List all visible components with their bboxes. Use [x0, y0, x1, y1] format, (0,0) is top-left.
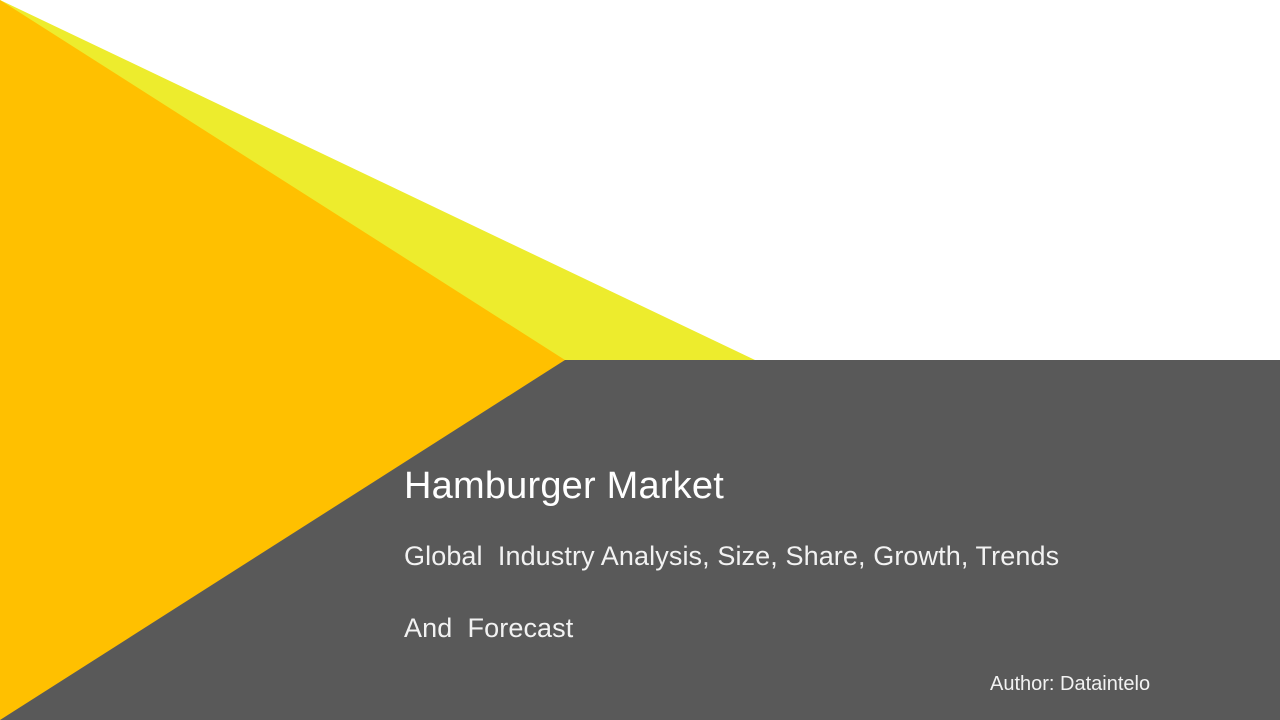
page-title: Hamburger Market	[404, 462, 1204, 510]
cover-subtitle-line-2: And Forecast	[404, 602, 1204, 654]
cover-text-block: Hamburger Market Global Industry Analysi…	[404, 462, 1204, 654]
author-credit: Author: Dataintelo	[990, 672, 1150, 696]
report-cover-page: Hamburger Market Global Industry Analysi…	[0, 0, 1280, 720]
cover-subtitle-line-1: Global Industry Analysis, Size, Share, G…	[404, 530, 1204, 582]
